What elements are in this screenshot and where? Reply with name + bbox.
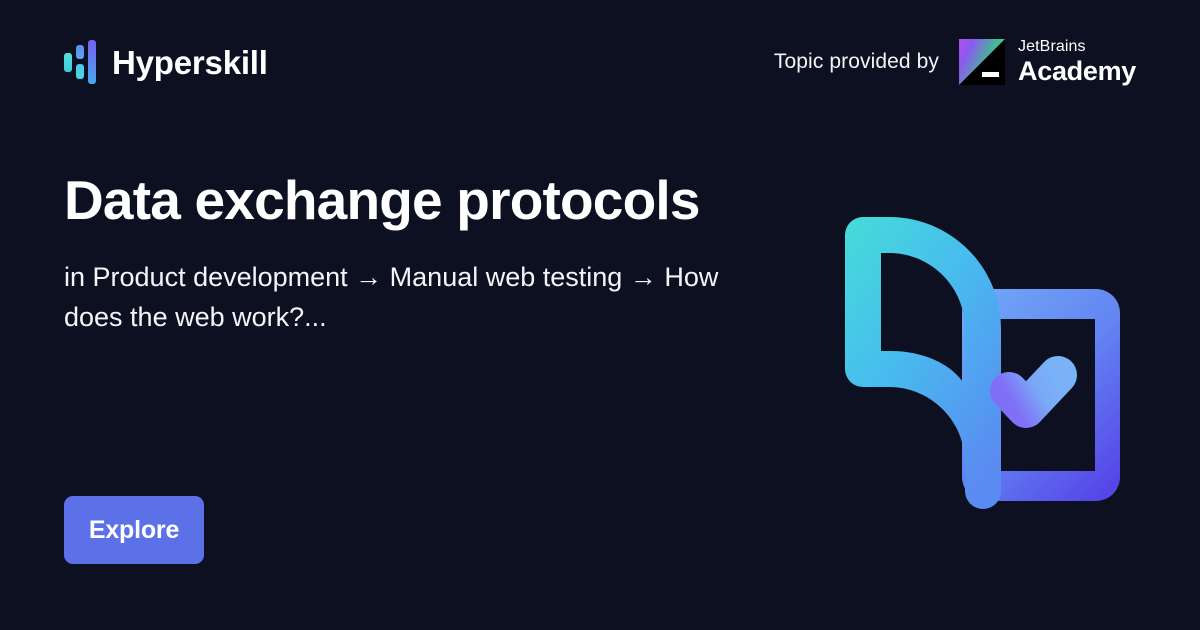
open-book-with-checked-page-illustration (845, 205, 1135, 515)
hyperskill-bars-icon (64, 40, 96, 84)
jetbrains-academy-wordmark: JetBrains Academy (1018, 39, 1136, 85)
breadcrumb: in Product development → Manual web test… (64, 258, 754, 338)
card-content: Data exchange protocols in Product devel… (64, 170, 784, 338)
logo-bar-3 (76, 64, 84, 79)
explore-button[interactable]: Explore (64, 496, 204, 564)
academy-word: Academy (1018, 58, 1136, 85)
jetbrains-academy-logo[interactable]: JetBrains Academy (959, 39, 1136, 85)
brand-name: Hyperskill (112, 46, 268, 79)
open-book-shape (845, 217, 1001, 509)
logo-bar-1 (64, 53, 72, 72)
jetbrains-dash-mark (982, 72, 999, 77)
page-title: Data exchange protocols (64, 170, 784, 232)
jetbrains-word: JetBrains (1018, 39, 1136, 55)
provider-block: Topic provided by JetBrains Academy (774, 39, 1136, 85)
checkmark-icon (1009, 375, 1058, 409)
hyperskill-brand[interactable]: Hyperskill (64, 38, 268, 86)
logo-bar-2 (76, 45, 84, 59)
card-header: Hyperskill Topic provided by JetBrains A… (0, 0, 1200, 150)
jetbrains-gradient-triangle (959, 39, 1005, 85)
logo-bar-4 (88, 40, 96, 84)
provider-label: Topic provided by (774, 50, 939, 74)
topic-share-card: Hyperskill Topic provided by JetBrains A… (0, 0, 1200, 630)
jetbrains-logo-icon (959, 39, 1005, 85)
